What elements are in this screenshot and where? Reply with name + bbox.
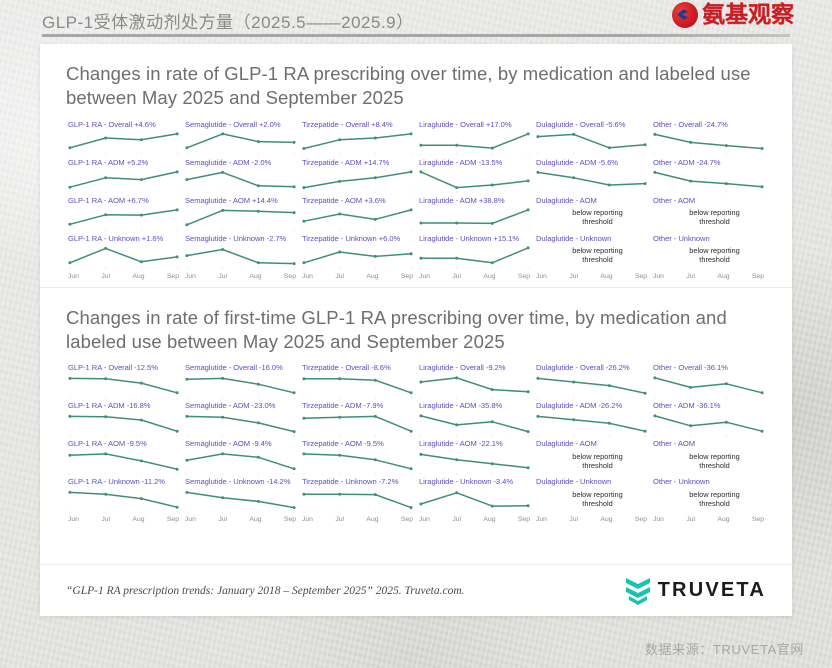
sparkline-panel[interactable]: Semaglutide - Unknown -14.2% [183, 478, 298, 516]
sparkline-panel[interactable]: Dulaglutide - Unknownbelow reportingthre… [534, 478, 649, 516]
axis-tick: Jun [653, 517, 664, 524]
sparkline-panel[interactable]: Dulaglutide - Unknownbelow reportingthre… [534, 235, 649, 273]
axis-tick: Jul [569, 517, 578, 524]
axis-tick: Jun [419, 517, 430, 524]
chart-column-tirzepatide: Tirzepatide - Overall -8.6%Tirzepatide -… [300, 364, 415, 524]
x-axis: JunJulAugSep [66, 274, 181, 281]
sparkline-panel[interactable]: GLP-1 RA - AOM +6.7% [66, 197, 181, 235]
truveta-logo: TRUVETA [625, 576, 766, 606]
sparkline-label: Dulaglutide - Unknown [534, 478, 649, 486]
small-multiples-grid-0: GLP-1 RA - Overall +4.6%GLP-1 RA - ADM +… [66, 121, 766, 281]
sparkline-label: Dulaglutide - AOM [534, 440, 649, 448]
sparkline [183, 129, 298, 156]
axis-tick: Jun [653, 274, 664, 281]
axis-tick: Aug [600, 517, 612, 524]
x-axis: JunJulAugSep [417, 274, 532, 281]
sparkline-label: Tirzepatide - Unknown +6.0% [300, 235, 415, 243]
sparkline-panel[interactable]: Other - AOMbelow reportingthreshold [651, 197, 766, 235]
sparkline-label: GLP-1 RA - Overall -12.5% [66, 364, 181, 372]
sparkline-label: Liraglutide - AOM -22.1% [417, 440, 532, 448]
sparkline-panel[interactable]: Tirzepatide - Unknown +6.0% [300, 235, 415, 273]
axis-tick: Jun [302, 517, 313, 524]
sparkline [417, 373, 532, 400]
sparkline-panel[interactable]: Tirzepatide - AOM -9.5% [300, 440, 415, 478]
sparkline-panel[interactable]: GLP-1 RA - ADM -16.8% [66, 402, 181, 440]
sparkline-label: Tirzepatide - AOM +3.6% [300, 197, 415, 205]
axis-tick: Jun [302, 274, 313, 281]
sparkline [66, 411, 181, 438]
sparkline-label: Other - AOM [651, 197, 766, 205]
x-axis: JunJulAugSep [66, 517, 181, 524]
sparkline-panel[interactable]: Liraglutide - AOM +38.8% [417, 197, 532, 235]
infographic-card: Changes in rate of GLP-1 RA prescribing … [40, 44, 792, 616]
source-watermark: 数据来源：TRUVETA官网 [645, 639, 804, 658]
page-header: GLP-1受体激动剂处方量（2025.5——2025.9） 氨基观察 [0, 0, 832, 42]
sparkline [183, 373, 298, 400]
axis-tick: Sep [167, 517, 179, 524]
sparkline-label: Other - Overall -36.1% [651, 364, 766, 372]
sparkline-panel[interactable]: Semaglutide - ADM -23.0% [183, 402, 298, 440]
sparkline-label: Semaglutide - AOM +14.4% [183, 197, 298, 205]
sparkline [534, 373, 649, 400]
sparkline-label: Other - Unknown [651, 478, 766, 486]
chart-column-dulaglutide: Dulaglutide - Overall -26.2%Dulaglutide … [534, 364, 649, 524]
below-threshold-note: below reportingthreshold [651, 452, 766, 470]
chart-panel-1: Changes in rate of first-time GLP-1 RA p… [40, 288, 792, 525]
sparkline-panel[interactable]: GLP-1 RA - Overall -12.5% [66, 364, 181, 402]
x-axis: JunJulAugSep [651, 517, 766, 524]
sparkline-label: Tirzepatide - AOM -9.5% [300, 440, 415, 448]
sparkline-label: Dulaglutide - Overall -5.6% [534, 121, 649, 129]
below-threshold-note: below reportingthreshold [651, 208, 766, 226]
card-footer: “GLP-1 RA prescription trends: January 2… [40, 564, 792, 616]
sparkline-panel[interactable]: Semaglutide - Overall -16.0% [183, 364, 298, 402]
chart-panel-0: Changes in rate of GLP-1 RA prescribing … [40, 44, 792, 281]
sparkline [300, 243, 415, 270]
sparkline [651, 373, 766, 400]
axis-tick: Aug [483, 274, 495, 281]
axis-tick: Sep [752, 517, 764, 524]
below-threshold-note: below reportingthreshold [534, 452, 649, 470]
axis-tick: Sep [401, 274, 413, 281]
sparkline-label: Tirzepatide - Overall +8.4% [300, 121, 415, 129]
sparkline [66, 373, 181, 400]
chart-column-liraglutide: Liraglutide - Overall +17.0%Liraglutide … [417, 121, 532, 281]
sparkline-label: GLP-1 RA - AOM +6.7% [66, 197, 181, 205]
sparkline-panel[interactable]: Semaglutide - Overall +2.0% [183, 121, 298, 159]
axis-tick: Jul [335, 274, 344, 281]
below-threshold-note: below reportingthreshold [651, 246, 766, 264]
sparkline-label: Liraglutide - Unknown +15.1% [417, 235, 532, 243]
brand-name: 氨基观察 [702, 4, 794, 27]
axis-tick: Aug [366, 517, 378, 524]
sparkline [300, 487, 415, 514]
axis-tick: Sep [284, 274, 296, 281]
axis-tick: Aug [132, 274, 144, 281]
sparkline [300, 205, 415, 232]
axis-tick: Aug [366, 274, 378, 281]
sparkline [66, 167, 181, 194]
sparkline-label: Liraglutide - ADM -13.5% [417, 159, 532, 167]
header-divider [42, 34, 790, 37]
sparkline-panel[interactable]: Semaglutide - AOM -9.4% [183, 440, 298, 478]
x-axis: JunJulAugSep [300, 274, 415, 281]
chart-title-1: Changes in rate of first-time GLP-1 RA p… [66, 306, 766, 355]
axis-tick: Aug [132, 517, 144, 524]
sparkline-panel[interactable]: Semaglutide - Unknown -2.7% [183, 235, 298, 273]
sparkline [651, 167, 766, 194]
sparkline [417, 449, 532, 476]
sparkline-label: Semaglutide - Unknown -14.2% [183, 478, 298, 486]
x-axis: JunJulAugSep [534, 517, 649, 524]
axis-tick: Jul [452, 274, 461, 281]
sparkline [183, 487, 298, 514]
sparkline-panel[interactable]: Other - ADM -36.1% [651, 402, 766, 440]
sparkline-label: GLP-1 RA - Unknown -11.2% [66, 478, 181, 486]
sparkline-panel[interactable]: Tirzepatide - Overall -8.6% [300, 364, 415, 402]
sparkline-label: Dulaglutide - AOM [534, 197, 649, 205]
sparkline-label: Tirzepatide - Overall -8.6% [300, 364, 415, 372]
sparkline-panel[interactable]: Other - AOMbelow reportingthreshold [651, 440, 766, 478]
sparkline-panel[interactable]: Other - Overall -36.1% [651, 364, 766, 402]
sparkline-panel[interactable]: Dulaglutide - ADM -5.6% [534, 159, 649, 197]
axis-tick: Sep [518, 517, 530, 524]
sparkline-panel[interactable]: Other - Overall -24.7% [651, 121, 766, 159]
sparkline [534, 129, 649, 156]
axis-tick: Jun [68, 517, 79, 524]
below-threshold-note: below reportingthreshold [534, 246, 649, 264]
sparkline [183, 167, 298, 194]
chart-title-0: Changes in rate of GLP-1 RA prescribing … [66, 62, 766, 111]
sparkline-panel[interactable]: Semaglutide - AOM +14.4% [183, 197, 298, 235]
axis-tick: Jul [569, 274, 578, 281]
axis-tick: Aug [717, 274, 729, 281]
sparkline-panel[interactable]: Liraglutide - ADM -13.5% [417, 159, 532, 197]
sparkline [417, 411, 532, 438]
sparkline-panel[interactable]: Tirzepatide - ADM +14.7% [300, 159, 415, 197]
axis-tick: Sep [635, 274, 647, 281]
sparkline-label: GLP-1 RA - ADM +5.2% [66, 159, 181, 167]
axis-tick: Sep [401, 517, 413, 524]
sparkline-label: Semaglutide - ADM -23.0% [183, 402, 298, 410]
axis-tick: Sep [284, 517, 296, 524]
axis-tick: Jun [185, 274, 196, 281]
sparkline [300, 411, 415, 438]
sparkline-label: Dulaglutide - Unknown [534, 235, 649, 243]
sparkline-panel[interactable]: Liraglutide - ADM -35.8% [417, 402, 532, 440]
sparkline [66, 129, 181, 156]
sparkline-panel[interactable]: Semaglutide - ADM -2.0% [183, 159, 298, 197]
sparkline [183, 449, 298, 476]
chart-column-semaglutide: Semaglutide - Overall +2.0%Semaglutide -… [183, 121, 298, 281]
axis-tick: Aug [483, 517, 495, 524]
chart-column-other: Other - Overall -36.1%Other - ADM -36.1%… [651, 364, 766, 524]
chart-column-dulaglutide: Dulaglutide - Overall -5.6%Dulaglutide -… [534, 121, 649, 281]
axis-tick: Jun [68, 274, 79, 281]
x-axis: JunJulAugSep [183, 274, 298, 281]
circular-emblem-icon [672, 2, 698, 28]
sparkline-panel[interactable]: Liraglutide - Unknown +15.1% [417, 235, 532, 273]
sparkline-label: GLP-1 RA - AOM -9.5% [66, 440, 181, 448]
sparkline [300, 449, 415, 476]
below-threshold-note: below reportingthreshold [534, 208, 649, 226]
axis-tick: Sep [518, 274, 530, 281]
axis-tick: Jul [218, 274, 227, 281]
sparkline [651, 411, 766, 438]
x-axis: JunJulAugSep [534, 274, 649, 281]
sparkline [417, 487, 532, 514]
sparkline-label: Semaglutide - AOM -9.4% [183, 440, 298, 448]
chart-column-glp-1-ra: GLP-1 RA - Overall +4.6%GLP-1 RA - ADM +… [66, 121, 181, 281]
sparkline [300, 373, 415, 400]
sparkline-label: Other - AOM [651, 440, 766, 448]
sparkline-label: Dulaglutide - ADM -5.6% [534, 159, 649, 167]
sparkline [300, 167, 415, 194]
axis-tick: Sep [167, 274, 179, 281]
sparkline [183, 243, 298, 270]
sparkline-panel[interactable]: Liraglutide - Unknown -3.4% [417, 478, 532, 516]
sparkline-label: Other - Overall -24.7% [651, 121, 766, 129]
sparkline-label: Semaglutide - Overall +2.0% [183, 121, 298, 129]
axis-tick: Jun [536, 274, 547, 281]
axis-tick: Jun [419, 274, 430, 281]
sparkline-label: Liraglutide - Overall -9.2% [417, 364, 532, 372]
source-citation: “GLP-1 RA prescription trends: January 2… [66, 585, 465, 597]
sparkline-label: Semaglutide - ADM -2.0% [183, 159, 298, 167]
chart-column-glp-1-ra: GLP-1 RA - Overall -12.5%GLP-1 RA - ADM … [66, 364, 181, 524]
brand-logo: 氨基观察 [672, 2, 794, 28]
axis-tick: Aug [717, 517, 729, 524]
sparkline [66, 449, 181, 476]
chart-column-other: Other - Overall -24.7%Other - ADM -24.7%… [651, 121, 766, 281]
sparkline [183, 205, 298, 232]
axis-tick: Jun [185, 517, 196, 524]
sparkline-panel[interactable]: GLP-1 RA - Unknown +1.6% [66, 235, 181, 273]
sparkline-panel[interactable]: Dulaglutide - AOMbelow reportingthreshol… [534, 197, 649, 235]
sparkline-label: GLP-1 RA - Unknown +1.6% [66, 235, 181, 243]
sparkline-label: Other - ADM -24.7% [651, 159, 766, 167]
sparkline [66, 487, 181, 514]
sparkline-panel[interactable]: Tirzepatide - ADM -7.9% [300, 402, 415, 440]
sparkline-panel[interactable]: Liraglutide - AOM -22.1% [417, 440, 532, 478]
sparkline [417, 205, 532, 232]
sparkline-panel[interactable]: Tirzepatide - Unknown -7.2% [300, 478, 415, 516]
sparkline-panel[interactable]: Liraglutide - Overall +17.0% [417, 121, 532, 159]
axis-tick: Aug [249, 274, 261, 281]
below-threshold-note: below reportingthreshold [534, 490, 649, 508]
sparkline [66, 205, 181, 232]
axis-tick: Sep [752, 274, 764, 281]
sparkline-panel[interactable]: Dulaglutide - AOMbelow reportingthreshol… [534, 440, 649, 478]
x-axis: JunJulAugSep [300, 517, 415, 524]
axis-tick: Jul [452, 517, 461, 524]
axis-tick: Jul [335, 517, 344, 524]
sparkline-label: Semaglutide - Unknown -2.7% [183, 235, 298, 243]
page-title: GLP-1受体激动剂处方量（2025.5——2025.9） [42, 8, 414, 33]
sparkline-panel[interactable]: GLP-1 RA - Overall +4.6% [66, 121, 181, 159]
sparkline-label: Semaglutide - Overall -16.0% [183, 364, 298, 372]
sparkline-panel[interactable]: Tirzepatide - Overall +8.4% [300, 121, 415, 159]
sparkline-label: GLP-1 RA - ADM -16.8% [66, 402, 181, 410]
sparkline-label: Tirzepatide - ADM +14.7% [300, 159, 415, 167]
axis-tick: Jun [536, 517, 547, 524]
sparkline-panel[interactable]: GLP-1 RA - ADM +5.2% [66, 159, 181, 197]
sparkline-panel[interactable]: Other - Unknownbelow reportingthreshold [651, 235, 766, 273]
sparkline-panel[interactable]: Other - ADM -24.7% [651, 159, 766, 197]
sparkline-panel[interactable]: Dulaglutide - Overall -5.6% [534, 121, 649, 159]
chart-column-semaglutide: Semaglutide - Overall -16.0%Semaglutide … [183, 364, 298, 524]
truveta-wheat-icon [625, 576, 651, 606]
sparkline-label: Liraglutide - ADM -35.8% [417, 402, 532, 410]
axis-tick: Aug [249, 517, 261, 524]
sparkline [534, 167, 649, 194]
sparkline-label: Liraglutide - Unknown -3.4% [417, 478, 532, 486]
sparkline-panel[interactable]: Other - Unknownbelow reportingthreshold [651, 478, 766, 516]
axis-tick: Aug [600, 274, 612, 281]
x-axis: JunJulAugSep [417, 517, 532, 524]
sparkline-label: Other - Unknown [651, 235, 766, 243]
axis-tick: Sep [635, 517, 647, 524]
axis-tick: Jul [101, 517, 110, 524]
x-axis: JunJulAugSep [651, 274, 766, 281]
sparkline-panel[interactable]: Liraglutide - Overall -9.2% [417, 364, 532, 402]
sparkline [66, 243, 181, 270]
sparkline-panel[interactable]: Dulaglutide - ADM -26.2% [534, 402, 649, 440]
sparkline [417, 129, 532, 156]
sparkline-label: Dulaglutide - ADM -26.2% [534, 402, 649, 410]
below-threshold-note: below reportingthreshold [651, 490, 766, 508]
sparkline-label: Dulaglutide - Overall -26.2% [534, 364, 649, 372]
sparkline [534, 411, 649, 438]
chart-column-tirzepatide: Tirzepatide - Overall +8.4%Tirzepatide -… [300, 121, 415, 281]
sparkline-panel[interactable]: Tirzepatide - AOM +3.6% [300, 197, 415, 235]
sparkline-label: Tirzepatide - Unknown -7.2% [300, 478, 415, 486]
sparkline-label: GLP-1 RA - Overall +4.6% [66, 121, 181, 129]
sparkline-panel[interactable]: Dulaglutide - Overall -26.2% [534, 364, 649, 402]
sparkline [300, 129, 415, 156]
axis-tick: Jul [101, 274, 110, 281]
sparkline-label: Other - ADM -36.1% [651, 402, 766, 410]
x-axis: JunJulAugSep [183, 517, 298, 524]
sparkline [651, 129, 766, 156]
chart-column-liraglutide: Liraglutide - Overall -9.2%Liraglutide -… [417, 364, 532, 524]
sparkline [417, 167, 532, 194]
sparkline [183, 411, 298, 438]
sparkline [417, 243, 532, 270]
sparkline-panel[interactable]: GLP-1 RA - Unknown -11.2% [66, 478, 181, 516]
sparkline-label: Liraglutide - Overall +17.0% [417, 121, 532, 129]
axis-tick: Jul [686, 517, 695, 524]
sparkline-panel[interactable]: GLP-1 RA - AOM -9.5% [66, 440, 181, 478]
truveta-wordmark: TRUVETA [658, 579, 766, 602]
sparkline-label: Tirzepatide - ADM -7.9% [300, 402, 415, 410]
small-multiples-grid-1: GLP-1 RA - Overall -12.5%GLP-1 RA - ADM … [66, 364, 766, 524]
sparkline-label: Liraglutide - AOM +38.8% [417, 197, 532, 205]
axis-tick: Jul [218, 517, 227, 524]
axis-tick: Jul [686, 274, 695, 281]
